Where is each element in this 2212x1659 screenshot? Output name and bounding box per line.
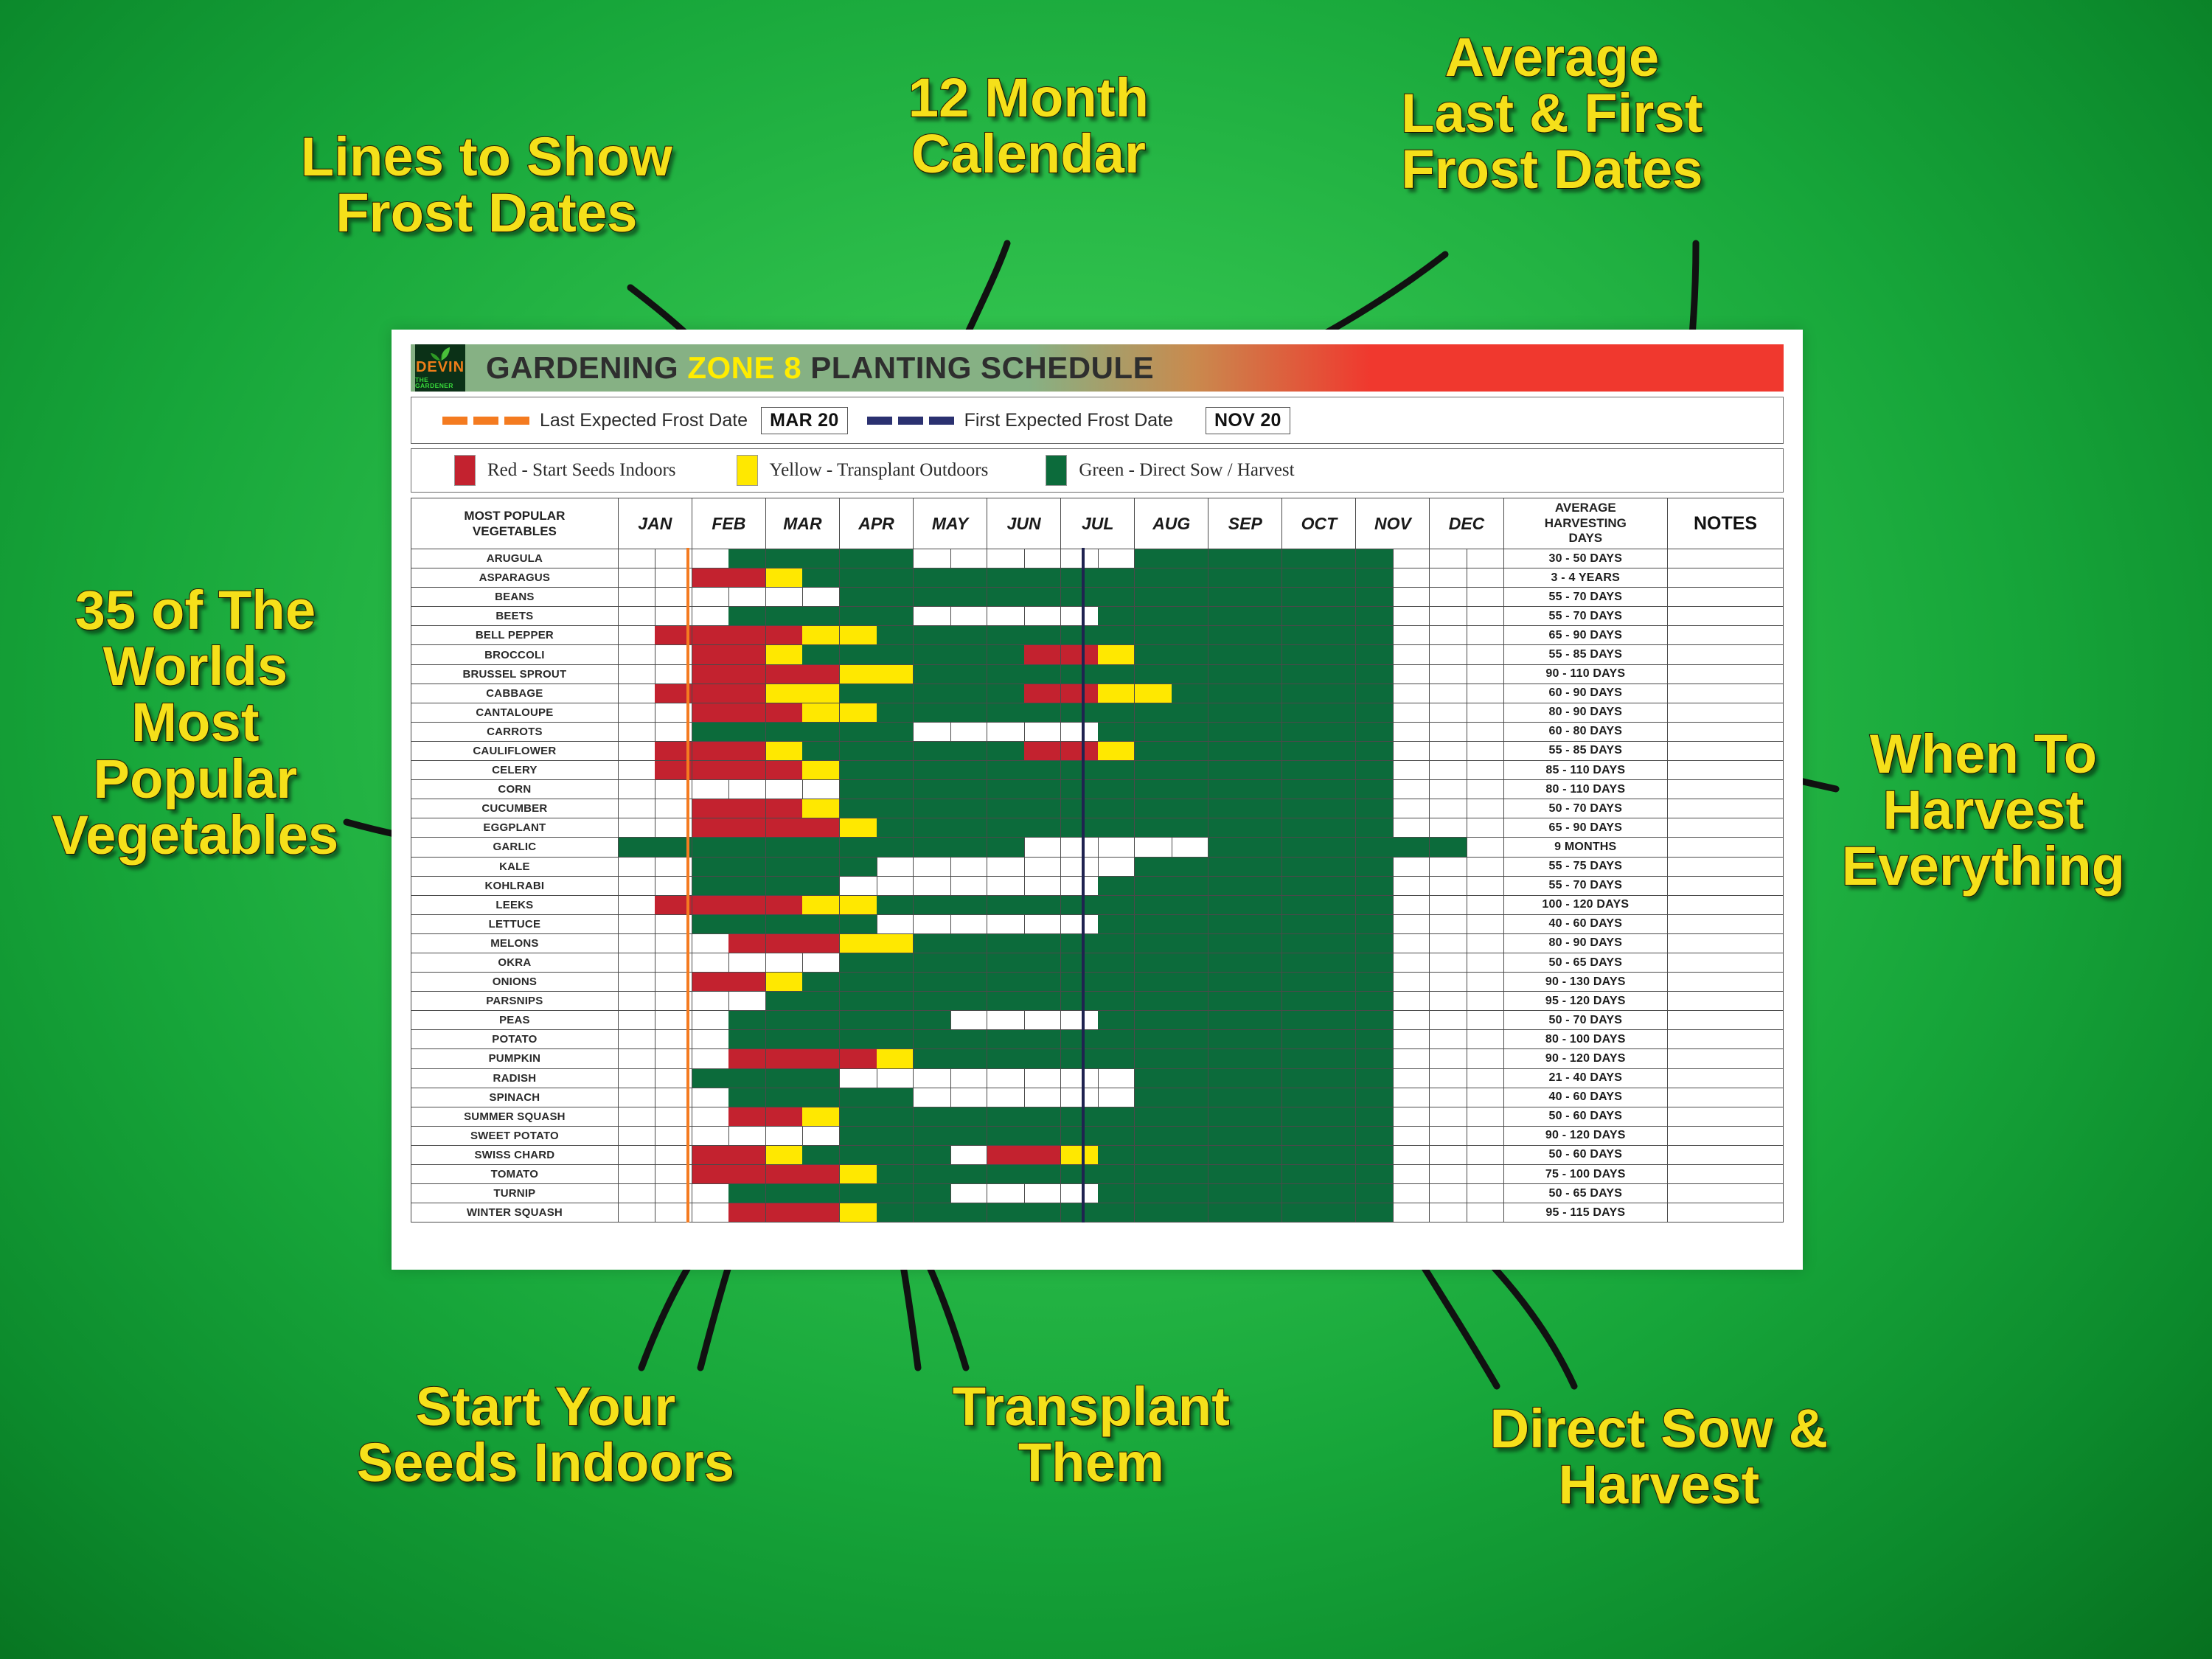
- month-cell: [1356, 645, 1430, 664]
- month-cell: [1356, 876, 1430, 895]
- schedule-segment-grn: [1061, 934, 1098, 953]
- month-cell: [1356, 588, 1430, 607]
- month-cell: [1282, 953, 1356, 972]
- month-cell: [1282, 607, 1356, 626]
- schedule-segment-grn: [1282, 1184, 1319, 1203]
- schedule-segment-grn: [1061, 953, 1098, 972]
- schedule-segment-grn: [1356, 742, 1393, 760]
- schedule-segment-grn: [1282, 626, 1319, 644]
- schedule-segment-grn: [766, 607, 803, 625]
- schedule-segment-red: [766, 626, 803, 644]
- month-cell: [1135, 973, 1208, 992]
- month-cell: [1135, 703, 1208, 722]
- schedule-segment-grn: [877, 1146, 914, 1164]
- callout-transplant-them: Transplant Them: [900, 1379, 1283, 1491]
- notes-cell[interactable]: [1668, 1145, 1784, 1164]
- notes-cell[interactable]: [1668, 549, 1784, 568]
- notes-cell[interactable]: [1668, 838, 1784, 857]
- month-cell: [1061, 722, 1135, 741]
- schedule-segment-grn: [1172, 549, 1208, 568]
- schedule-segment-grn: [914, 934, 950, 953]
- schedule-segment-grn: [1172, 665, 1208, 684]
- month-cell: [692, 818, 765, 838]
- schedule-segment-grn: [840, 568, 877, 587]
- schedule-segment-grn: [1208, 877, 1245, 895]
- harvest-days-cell: 50 - 70 DAYS: [1503, 1011, 1668, 1030]
- schedule-segment-grn: [1245, 1165, 1282, 1183]
- month-cell: [987, 933, 1061, 953]
- schedule-segment-grn: [1061, 588, 1098, 606]
- table-row: LETTUCE40 - 60 DAYS: [411, 914, 1784, 933]
- callout-direct-sow-harvest: Direct Sow & Harvest: [1430, 1401, 1888, 1513]
- notes-cell[interactable]: [1668, 953, 1784, 972]
- logo-tagline: THE GARDENER: [415, 377, 465, 389]
- month-cell: [1282, 549, 1356, 568]
- schedule-segment-grn: [1282, 838, 1319, 856]
- month-cell: [1430, 703, 1503, 722]
- month-cell: [765, 1030, 839, 1049]
- month-cell: [692, 973, 765, 992]
- schedule-segment-grn: [1135, 818, 1172, 837]
- notes-cell[interactable]: [1668, 761, 1784, 780]
- month-cell: [914, 992, 987, 1011]
- month-cell: [1430, 664, 1503, 684]
- notes-cell[interactable]: [1668, 818, 1784, 838]
- schedule-segment-grn: [1319, 1049, 1356, 1068]
- schedule-segment-red: [766, 818, 803, 837]
- vegetable-name-cell: SPINACH: [411, 1088, 619, 1107]
- schedule-segment-grn: [877, 896, 914, 914]
- schedule-segment-grn: [1135, 626, 1172, 644]
- month-cell: [1208, 664, 1282, 684]
- month-cell: [1430, 684, 1503, 703]
- month-cell: [1135, 914, 1208, 933]
- vegetable-name-cell: BRUSSEL SPROUT: [411, 664, 619, 684]
- schedule-segment-grn: [1282, 877, 1319, 895]
- schedule-segment-grn: [1208, 607, 1245, 625]
- schedule-segment-grn: [1172, 780, 1208, 799]
- month-cell: [1282, 876, 1356, 895]
- schedule-segment-grn: [987, 1107, 1024, 1126]
- month-cell: [987, 1030, 1061, 1049]
- month-cell: [1135, 1011, 1208, 1030]
- notes-cell[interactable]: [1668, 1049, 1784, 1068]
- month-cell: [1061, 1011, 1135, 1030]
- schedule-segment-grn: [1282, 1049, 1319, 1068]
- schedule-segment-grn: [877, 953, 914, 972]
- schedule-segment-red: [692, 896, 729, 914]
- month-cell: [692, 799, 765, 818]
- planting-schedule-poster: DEVIN THE GARDENER GARDENING ZONE 8 PLAN…: [392, 330, 1803, 1270]
- month-cell: [839, 703, 913, 722]
- month-cell: [618, 626, 692, 645]
- schedule-segment-grn: [1024, 588, 1061, 606]
- notes-cell[interactable]: [1668, 1126, 1784, 1145]
- schedule-segment-grn: [1208, 1088, 1245, 1107]
- month-cell: [1135, 992, 1208, 1011]
- schedule-segment-grn: [1319, 761, 1356, 779]
- logo-brand: DEVIN: [416, 360, 465, 375]
- schedule-segment-grn: [1282, 818, 1319, 837]
- vegetable-name-cell: POTATO: [411, 1030, 619, 1049]
- schedule-segment-grn: [1098, 992, 1135, 1010]
- table-row: CABBAGE60 - 90 DAYS: [411, 684, 1784, 703]
- schedule-segment-grn: [1356, 723, 1393, 741]
- schedule-segment-grn: [840, 1184, 877, 1203]
- month-cell: [914, 1011, 987, 1030]
- schedule-segment-grn: [1135, 934, 1172, 953]
- key-green: Green - Direct Sow / Harvest: [1046, 455, 1294, 486]
- notes-cell[interactable]: [1668, 568, 1784, 588]
- schedule-segment-grn: [1024, 992, 1061, 1010]
- month-cell: [1061, 684, 1135, 703]
- month-cell: [914, 857, 987, 876]
- schedule-segment-grn: [840, 858, 877, 876]
- table-row: WINTER SQUASH95 - 115 DAYS: [411, 1203, 1784, 1222]
- schedule-segment-grn: [877, 549, 914, 568]
- month-cell: [1356, 1165, 1430, 1184]
- schedule-segment-grn: [1282, 1127, 1319, 1145]
- month-cell: [1282, 857, 1356, 876]
- month-cell: [1061, 992, 1135, 1011]
- month-cell: [618, 1126, 692, 1145]
- schedule-segment-red: [692, 703, 729, 722]
- schedule-segment-red: [692, 1165, 729, 1183]
- schedule-segment-grn: [1282, 953, 1319, 972]
- schedule-segment-grn: [1356, 1069, 1393, 1088]
- month-cell: [1282, 1068, 1356, 1088]
- schedule-segment-red: [728, 626, 765, 644]
- month-cell: [692, 953, 765, 972]
- month-cell: [1282, 1088, 1356, 1107]
- schedule-segment-grn: [1356, 877, 1393, 895]
- harvest-days-cell: 55 - 75 DAYS: [1503, 857, 1668, 876]
- month-cell: [692, 1030, 765, 1049]
- vegetable-name-cell: SWEET POTATO: [411, 1126, 619, 1145]
- month-cell: [1282, 799, 1356, 818]
- schedule-segment-grn: [1061, 992, 1098, 1010]
- month-cell: [1282, 992, 1356, 1011]
- month-cell: [1282, 933, 1356, 953]
- vegetable-name-cell: PEAS: [411, 1011, 619, 1030]
- notes-cell[interactable]: [1668, 588, 1784, 607]
- table-row: RADISH21 - 40 DAYS: [411, 1068, 1784, 1088]
- schedule-segment-red: [728, 684, 765, 703]
- vegetable-name-cell: ONIONS: [411, 973, 619, 992]
- schedule-segment-grn: [728, 1184, 765, 1203]
- schedule-segment-grn: [1282, 549, 1319, 568]
- table-row: CUCUMBER50 - 70 DAYS: [411, 799, 1784, 818]
- schedule-segment-grn: [1208, 742, 1245, 760]
- notes-cell[interactable]: [1668, 973, 1784, 992]
- month-cell: [1356, 838, 1430, 857]
- month-cell: [765, 549, 839, 568]
- schedule-segment-grn: [1319, 934, 1356, 953]
- month-cell: [1135, 588, 1208, 607]
- schedule-segment-grn: [802, 568, 839, 587]
- schedule-segment-red: [987, 1146, 1024, 1164]
- month-cell: [839, 568, 913, 588]
- month-cell: [1208, 684, 1282, 703]
- schedule-segment-grn: [766, 549, 803, 568]
- table-row: ONIONS90 - 130 DAYS: [411, 973, 1784, 992]
- vegetable-name-cell: RADISH: [411, 1068, 619, 1088]
- frost-dates-row: Last Expected Frost Date MAR 20 First Ex…: [411, 397, 1784, 444]
- schedule-segment-grn: [1024, 1049, 1061, 1068]
- schedule-segment-grn: [1282, 973, 1319, 991]
- notes-cell[interactable]: [1668, 664, 1784, 684]
- schedule-segment-grn: [1245, 1011, 1282, 1029]
- notes-cell[interactable]: [1668, 1011, 1784, 1030]
- schedule-segment-grn: [950, 992, 987, 1010]
- schedule-segment-yel: [840, 896, 877, 914]
- month-cell: [765, 973, 839, 992]
- month-cell: [765, 626, 839, 645]
- schedule-segment-red: [766, 934, 803, 953]
- schedule-segment-grn: [840, 1011, 877, 1029]
- notes-cell[interactable]: [1668, 933, 1784, 953]
- schedule-segment-grn: [802, 1069, 839, 1088]
- schedule-segment-red: [766, 665, 803, 684]
- schedule-segment-grn: [1282, 761, 1319, 779]
- schedule-segment-grn: [766, 723, 803, 741]
- table-row: OKRA50 - 65 DAYS: [411, 953, 1784, 972]
- schedule-segment-grn: [1024, 818, 1061, 837]
- harvest-days-cell: 80 - 90 DAYS: [1503, 703, 1668, 722]
- schedule-segment-grn: [914, 1165, 950, 1183]
- schedule-segment-red: [728, 934, 765, 953]
- notes-cell[interactable]: [1668, 684, 1784, 703]
- schedule-segment-grn: [914, 1030, 950, 1048]
- month-cell: [1282, 818, 1356, 838]
- schedule-segment-grn: [1356, 1184, 1393, 1203]
- schedule-segment-grn: [1061, 799, 1098, 818]
- schedule-segment-grn: [840, 588, 877, 606]
- schedule-segment-grn: [840, 1127, 877, 1145]
- schedule-segment-red: [692, 645, 729, 664]
- schedule-segment-grn: [1135, 607, 1172, 625]
- month-cell: [692, 588, 765, 607]
- month-cell: [1430, 876, 1503, 895]
- schedule-segment-grn: [766, 858, 803, 876]
- schedule-segment-red: [1024, 684, 1061, 703]
- schedule-segment-grn: [1024, 703, 1061, 722]
- schedule-segment-grn: [1208, 799, 1245, 818]
- schedule-segment-grn: [1245, 626, 1282, 644]
- month-cell: [692, 857, 765, 876]
- schedule-segment-grn: [987, 1030, 1024, 1048]
- schedule-segment-grn: [1319, 665, 1356, 684]
- color-key-row: Red - Start Seeds Indoors Yellow - Trans…: [411, 448, 1784, 493]
- schedule-segment-grn: [1208, 915, 1245, 933]
- notes-cell[interactable]: [1668, 1165, 1784, 1184]
- notes-cell[interactable]: [1668, 895, 1784, 914]
- schedule-segment-grn: [1356, 607, 1393, 625]
- month-cell: [765, 664, 839, 684]
- schedule-segment-grn: [877, 626, 914, 644]
- notes-cell[interactable]: [1668, 1068, 1784, 1088]
- schedule-segment-grn: [1356, 992, 1393, 1010]
- schedule-segment-grn: [655, 838, 692, 856]
- table-row: CANTALOUPE80 - 90 DAYS: [411, 703, 1784, 722]
- month-cell: [987, 973, 1061, 992]
- harvest-days-cell: 90 - 130 DAYS: [1503, 973, 1668, 992]
- month-cell: [1061, 895, 1135, 914]
- notes-cell[interactable]: [1668, 857, 1784, 876]
- month-cell: [839, 857, 913, 876]
- header-month-oct: OCT: [1282, 498, 1356, 549]
- notes-cell[interactable]: [1668, 1184, 1784, 1203]
- schedule-segment-grn: [1245, 973, 1282, 991]
- notes-cell[interactable]: [1668, 992, 1784, 1011]
- schedule-segment-grn: [728, 915, 765, 933]
- table-row: CELERY85 - 110 DAYS: [411, 761, 1784, 780]
- key-green-label: Green - Direct Sow / Harvest: [1079, 460, 1294, 481]
- month-cell: [1356, 1107, 1430, 1126]
- month-cell: [1282, 722, 1356, 741]
- schedule-segment-red: [1061, 645, 1098, 664]
- month-cell: [839, 799, 913, 818]
- schedule-segment-red: [692, 799, 729, 818]
- schedule-segment-grn: [766, 992, 803, 1010]
- notes-cell[interactable]: [1668, 799, 1784, 818]
- month-cell: [1430, 626, 1503, 645]
- schedule-segment-grn: [1245, 684, 1282, 703]
- schedule-segment-grn: [1135, 896, 1172, 914]
- schedule-segment-grn: [877, 1165, 914, 1183]
- schedule-segment-grn: [1245, 761, 1282, 779]
- schedule-segment-grn: [950, 818, 987, 837]
- schedule-segment-grn: [1024, 1030, 1061, 1048]
- notes-cell[interactable]: [1668, 1088, 1784, 1107]
- schedule-segment-grn: [1245, 568, 1282, 587]
- schedule-segment-grn: [1098, 1030, 1135, 1048]
- table-row: CAULIFLOWER55 - 85 DAYS: [411, 741, 1784, 760]
- schedule-segment-yel: [766, 973, 803, 991]
- schedule-segment-grn: [1282, 1069, 1319, 1088]
- notes-cell[interactable]: [1668, 645, 1784, 664]
- month-cell: [1135, 1126, 1208, 1145]
- schedule-segment-grn: [1208, 1030, 1245, 1048]
- month-cell: [1208, 953, 1282, 972]
- schedule-segment-grn: [840, 799, 877, 818]
- schedule-segment-red: [766, 761, 803, 779]
- schedule-segment-grn: [1319, 1184, 1356, 1203]
- table-row: LEEKS100 - 120 DAYS: [411, 895, 1784, 914]
- schedule-segment-red: [728, 1203, 765, 1222]
- schedule-segment-red: [766, 896, 803, 914]
- table-row: SWEET POTATO90 - 120 DAYS: [411, 1126, 1784, 1145]
- month-cell: [1282, 1011, 1356, 1030]
- month-cell: [914, 1165, 987, 1184]
- month-cell: [1061, 1068, 1135, 1088]
- schedule-segment-grn: [840, 1030, 877, 1048]
- schedule-segment-grn: [1135, 703, 1172, 722]
- harvest-days-cell: 65 - 90 DAYS: [1503, 626, 1668, 645]
- month-cell: [1356, 761, 1430, 780]
- schedule-segment-grn: [877, 1030, 914, 1048]
- notes-cell[interactable]: [1668, 780, 1784, 799]
- schedule-segment-red: [840, 1049, 877, 1068]
- notes-cell[interactable]: [1668, 703, 1784, 722]
- schedule-segment-grn: [987, 934, 1024, 953]
- notes-cell[interactable]: [1668, 914, 1784, 933]
- month-cell: [692, 626, 765, 645]
- month-cell: [1208, 1145, 1282, 1164]
- schedule-segment-grn: [802, 1088, 839, 1107]
- month-cell: [1208, 1068, 1282, 1088]
- schedule-segment-grn: [802, 1011, 839, 1029]
- month-cell: [914, 1088, 987, 1107]
- poster-title-bar: DEVIN THE GARDENER GARDENING ZONE 8 PLAN…: [411, 344, 1784, 392]
- vegetable-name-cell: OKRA: [411, 953, 619, 972]
- month-cell: [1061, 607, 1135, 626]
- month-cell: [1356, 703, 1430, 722]
- schedule-segment-grn: [1024, 1127, 1061, 1145]
- title-before: GARDENING: [486, 350, 687, 385]
- schedule-segment-grn: [914, 896, 950, 914]
- notes-cell[interactable]: [1668, 876, 1784, 895]
- devin-the-gardener-logo: DEVIN THE GARDENER: [415, 344, 465, 392]
- month-cell: [1356, 722, 1430, 741]
- schedule-segment-grn: [1245, 742, 1282, 760]
- callout-most-popular-vegetables: 35 of The Worlds Most Popular Vegetables: [41, 582, 350, 863]
- notes-cell[interactable]: [1668, 626, 1784, 645]
- schedule-segment-grn: [1061, 1203, 1098, 1222]
- notes-cell[interactable]: [1668, 1030, 1784, 1049]
- month-cell: [1208, 568, 1282, 588]
- schedule-segment-red: [655, 761, 692, 779]
- month-cell: [1356, 933, 1430, 953]
- schedule-segment-grn: [1282, 665, 1319, 684]
- month-cell: [1061, 588, 1135, 607]
- month-cell: [618, 1030, 692, 1049]
- schedule-segment-grn: [950, 1203, 987, 1222]
- notes-cell[interactable]: [1668, 741, 1784, 760]
- month-cell: [987, 895, 1061, 914]
- table-row: BELL PEPPER65 - 90 DAYS: [411, 626, 1784, 645]
- notes-cell[interactable]: [1668, 607, 1784, 626]
- notes-cell[interactable]: [1668, 1203, 1784, 1222]
- schedule-segment-grn: [1319, 858, 1356, 876]
- month-cell: [765, 799, 839, 818]
- schedule-segment-grn: [1172, 1146, 1208, 1164]
- month-cell: [618, 1107, 692, 1126]
- schedule-segment-grn: [1024, 568, 1061, 587]
- schedule-segment-grn: [1245, 799, 1282, 818]
- month-cell: [839, 1126, 913, 1145]
- month-cell: [1356, 780, 1430, 799]
- harvest-days-cell: 50 - 65 DAYS: [1503, 953, 1668, 972]
- month-cell: [1282, 1184, 1356, 1203]
- month-cell: [1356, 953, 1430, 972]
- schedule-segment-grn: [692, 915, 729, 933]
- notes-cell[interactable]: [1668, 722, 1784, 741]
- schedule-segment-grn: [1319, 818, 1356, 837]
- schedule-segment-grn: [1356, 1146, 1393, 1164]
- schedule-segment-grn: [802, 858, 839, 876]
- month-cell: [692, 722, 765, 741]
- schedule-segment-grn: [1098, 607, 1135, 625]
- schedule-segment-grn: [1282, 858, 1319, 876]
- month-cell: [618, 876, 692, 895]
- notes-cell[interactable]: [1668, 1107, 1784, 1126]
- month-cell: [765, 1088, 839, 1107]
- schedule-segment-yel: [766, 684, 803, 703]
- month-cell: [914, 799, 987, 818]
- schedule-segment-grn: [1135, 1165, 1172, 1183]
- month-cell: [1208, 992, 1282, 1011]
